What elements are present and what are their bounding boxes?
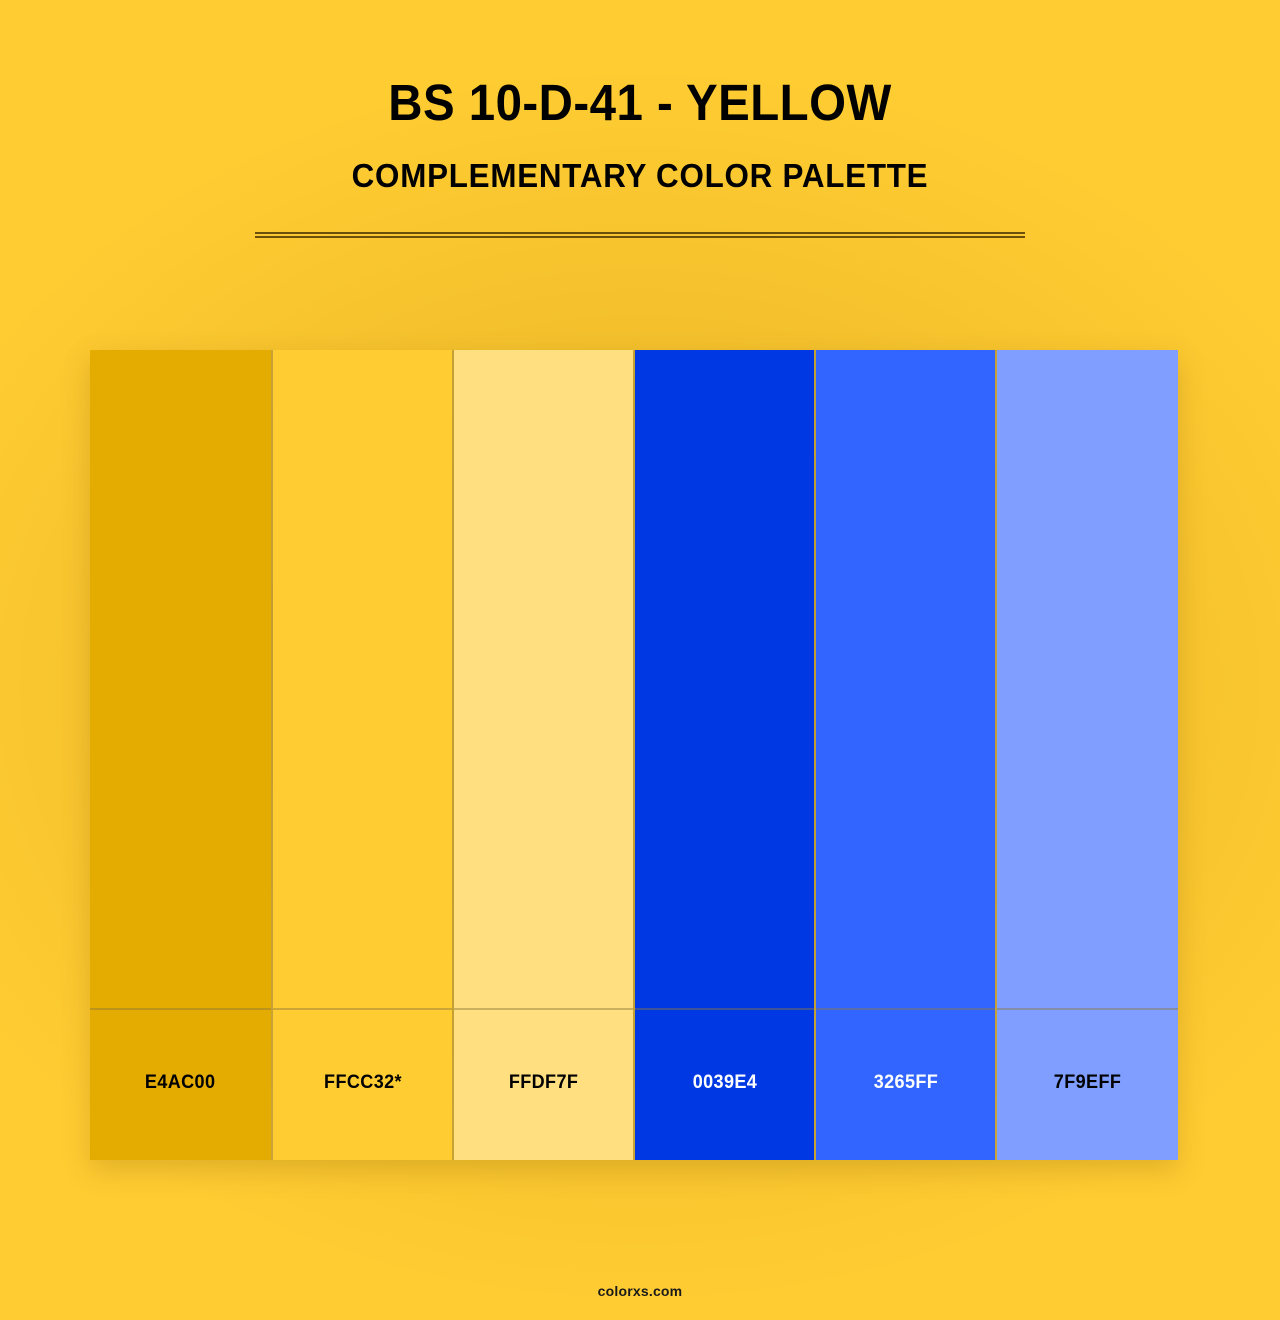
palette-strip: E4AC00FFCC32*FFDF7F0039E43265FF7F9EFF: [90, 350, 1178, 1160]
palette-swatch[interactable]: FFCC32*: [271, 350, 452, 1160]
swatch-color-block[interactable]: [454, 350, 633, 1008]
swatch-hex-label: 7F9EFF: [1054, 1072, 1121, 1094]
swatch-hex-label: 0039E4: [692, 1072, 757, 1094]
swatch-color-block[interactable]: [90, 350, 271, 1008]
swatch-color-block[interactable]: [816, 350, 995, 1008]
swatch-label-strip: 7F9EFF: [997, 1008, 1178, 1160]
page-title: BS 10-D-41 - YELLOW: [45, 0, 1235, 134]
swatch-label-strip: FFCC32*: [273, 1008, 452, 1160]
footer-site-label: colorxs.com: [598, 1283, 683, 1299]
color-palette-page: BS 10-D-41 - YELLOW COMPLEMENTARY COLOR …: [0, 0, 1280, 1320]
swatch-label-strip: E4AC00: [90, 1008, 271, 1160]
palette-swatch[interactable]: 0039E4: [633, 350, 814, 1160]
swatch-label-strip: FFDF7F: [454, 1008, 633, 1160]
swatch-hex-label: E4AC00: [145, 1072, 216, 1094]
swatch-hex-label: 3265FF: [873, 1072, 937, 1094]
page-subtitle: COMPLEMENTARY COLOR PALETTE: [32, 134, 1248, 196]
swatch-color-block[interactable]: [635, 350, 814, 1008]
page-footer: colorxs.com: [0, 1283, 1280, 1301]
page-header: BS 10-D-41 - YELLOW COMPLEMENTARY COLOR …: [0, 0, 1280, 196]
palette-swatch[interactable]: 3265FF: [814, 350, 995, 1160]
header-divider: [255, 232, 1025, 238]
swatch-color-block[interactable]: [273, 350, 452, 1008]
palette-swatch[interactable]: FFDF7F: [452, 350, 633, 1160]
swatch-color-block[interactable]: [997, 350, 1178, 1008]
swatch-label-strip: 0039E4: [635, 1008, 814, 1160]
swatch-hex-label: FFDF7F: [509, 1072, 578, 1094]
palette-swatch[interactable]: 7F9EFF: [995, 350, 1178, 1160]
swatch-label-strip: 3265FF: [816, 1008, 995, 1160]
swatch-hex-label: FFCC32*: [324, 1072, 402, 1094]
palette-swatch[interactable]: E4AC00: [90, 350, 271, 1160]
